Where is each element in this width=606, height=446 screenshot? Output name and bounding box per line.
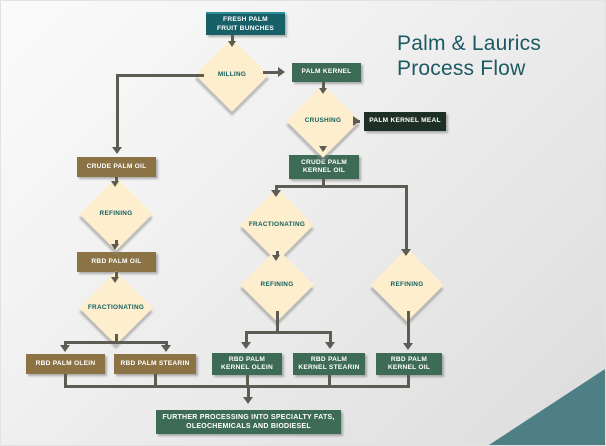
arrow-milling-crude-palm-oil [112, 147, 122, 154]
node-rbd-palm-kernel-oil[interactable]: RBD PALM KERNEL OIL [376, 353, 442, 375]
arrow-bottom-further-processing [243, 397, 253, 404]
process-milling[interactable]: MILLING [206, 49, 258, 101]
arrow-fpfb-milling [228, 41, 236, 47]
process-flow-diagram: Palm & Laurics Process Flow FRESH PALM F… [0, 0, 606, 446]
node-crude-palm-kernel-oil[interactable]: CRUDE PALM KERNEL OIL [289, 155, 359, 179]
node-rbd-palm-kernel-stearin[interactable]: RBD PALM KERNEL STEARIN [293, 353, 365, 375]
arrow-cpko-refining-right [401, 249, 411, 256]
arrow-rbdpo-fractionating [111, 277, 119, 283]
process-refining-kernel-right[interactable]: REFINING [381, 259, 433, 311]
page-title: Palm & Laurics Process Flow [397, 31, 541, 81]
connector-refk-drop [276, 311, 279, 332]
arrow-refk-kernel-olein [241, 342, 251, 349]
arrow-milling-palm-kernel [278, 67, 285, 77]
arrow-cpo-refining [111, 181, 119, 187]
node-rbd-palm-stearin[interactable]: RBD PALM STEARIN [114, 354, 196, 374]
process-crushing[interactable]: CRUSHING [297, 95, 349, 147]
arrow-refkr-kernel-oil [403, 343, 413, 350]
node-crude-palm-oil[interactable]: CRUDE PALM OIL [77, 157, 156, 177]
connector-fract-bus [64, 341, 168, 344]
arrow-fract-rbd-palm-stearin [161, 345, 171, 352]
arrow-cpko-fractionating [271, 190, 281, 197]
arrow-crushing-cpko [319, 146, 327, 152]
node-further-processing[interactable]: FURTHER PROCESSING INTO SPECIALTY FATS, … [156, 410, 341, 434]
arrow-palm-kernel-crushing [319, 88, 327, 94]
process-refining-palm[interactable]: REFINING [90, 188, 142, 240]
connector-milling-down [116, 74, 119, 149]
arrow-fract-rbd-palm-olein [60, 345, 70, 352]
connector-refk-bus [245, 331, 332, 334]
node-palm-kernel-meal[interactable]: PALM KERNEL MEAL [364, 112, 446, 131]
process-refining-kernel-left[interactable]: REFINING [251, 259, 303, 311]
node-rbd-palm-kernel-olein[interactable]: RBD PALM KERNEL OLEIN [212, 353, 282, 375]
connector-milling-left [116, 74, 204, 77]
connector-cpko-right-leg [405, 185, 408, 251]
node-palm-kernel[interactable]: PALM KERNEL [292, 63, 361, 82]
arrow-fractk-refining [272, 255, 280, 261]
connector-refkr-kernel-oil [407, 311, 410, 345]
node-rbd-palm-olein[interactable]: RBD PALM OLEIN [26, 354, 105, 374]
process-fractionating-palm[interactable]: FRACTIONATING [90, 282, 142, 334]
connector-bottom-bus [64, 385, 410, 388]
arrow-refk-kernel-stearin [325, 342, 335, 349]
node-fresh-palm-fruit-bunches[interactable]: FRESH PALM FRUIT BUNCHES [206, 12, 285, 35]
arrow-crushing-palm-kernel-meal [353, 116, 360, 126]
process-fractionating-kernel[interactable]: FRACTIONATING [251, 199, 303, 251]
corner-accent-triangle [489, 369, 605, 445]
connector-cpko-bus [275, 185, 407, 188]
arrow-refining-rbd-palm-oil [111, 244, 119, 250]
node-rbd-palm-oil[interactable]: RBD PALM OIL [77, 252, 156, 272]
